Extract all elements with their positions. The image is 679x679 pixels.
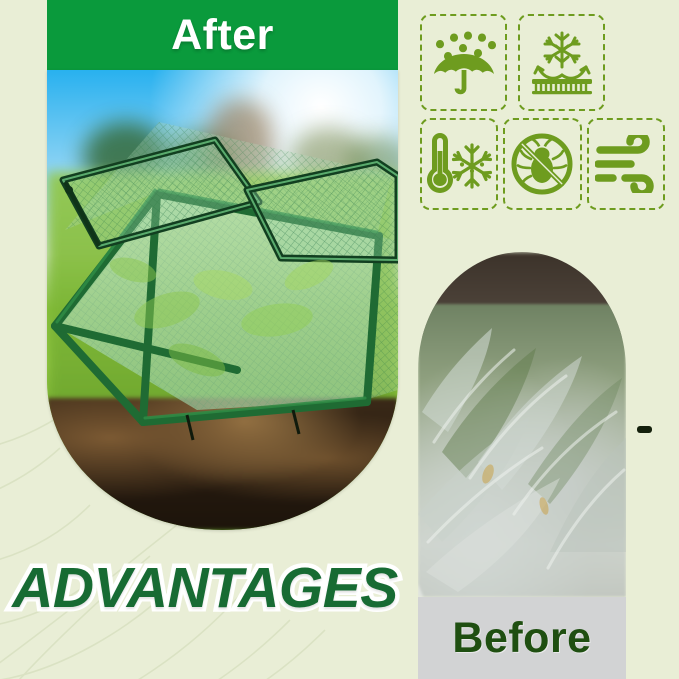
before-label: Before [452,617,591,660]
after-photo [47,70,398,530]
greenhouse-cloche-illustration [47,70,398,530]
corner-dash-mark [637,426,652,433]
after-panel: After [47,0,398,530]
after-header-bar: After [47,0,398,70]
umbrella-rain-icon [432,30,496,96]
no-bug-icon [509,131,575,197]
feature-cell-snow-protection[interactable] [518,14,605,111]
wind-icon [595,135,657,193]
snowflake-fabric-icon [528,31,596,95]
product-infographic: After [0,0,679,679]
feature-cell-wind-protection[interactable] [587,118,665,210]
advantages-label: ADVANTAGES [12,560,398,617]
advantages-heading: ADVANTAGES [0,560,410,617]
feature-icon-row-2 [420,118,670,210]
before-photo [418,252,626,597]
before-panel: Before [418,252,626,679]
after-label: After [171,14,274,57]
before-label-band: Before [418,597,626,679]
feature-icon-grid [420,14,670,210]
feature-cell-pest-protection[interactable] [503,118,581,210]
feature-cell-frost-protection[interactable] [420,118,498,210]
thermometer-snowflake-icon [426,131,492,197]
feature-cell-waterproof[interactable] [420,14,507,111]
iced-leaves-illustration [418,252,626,597]
feature-icon-row-1 [420,14,670,111]
